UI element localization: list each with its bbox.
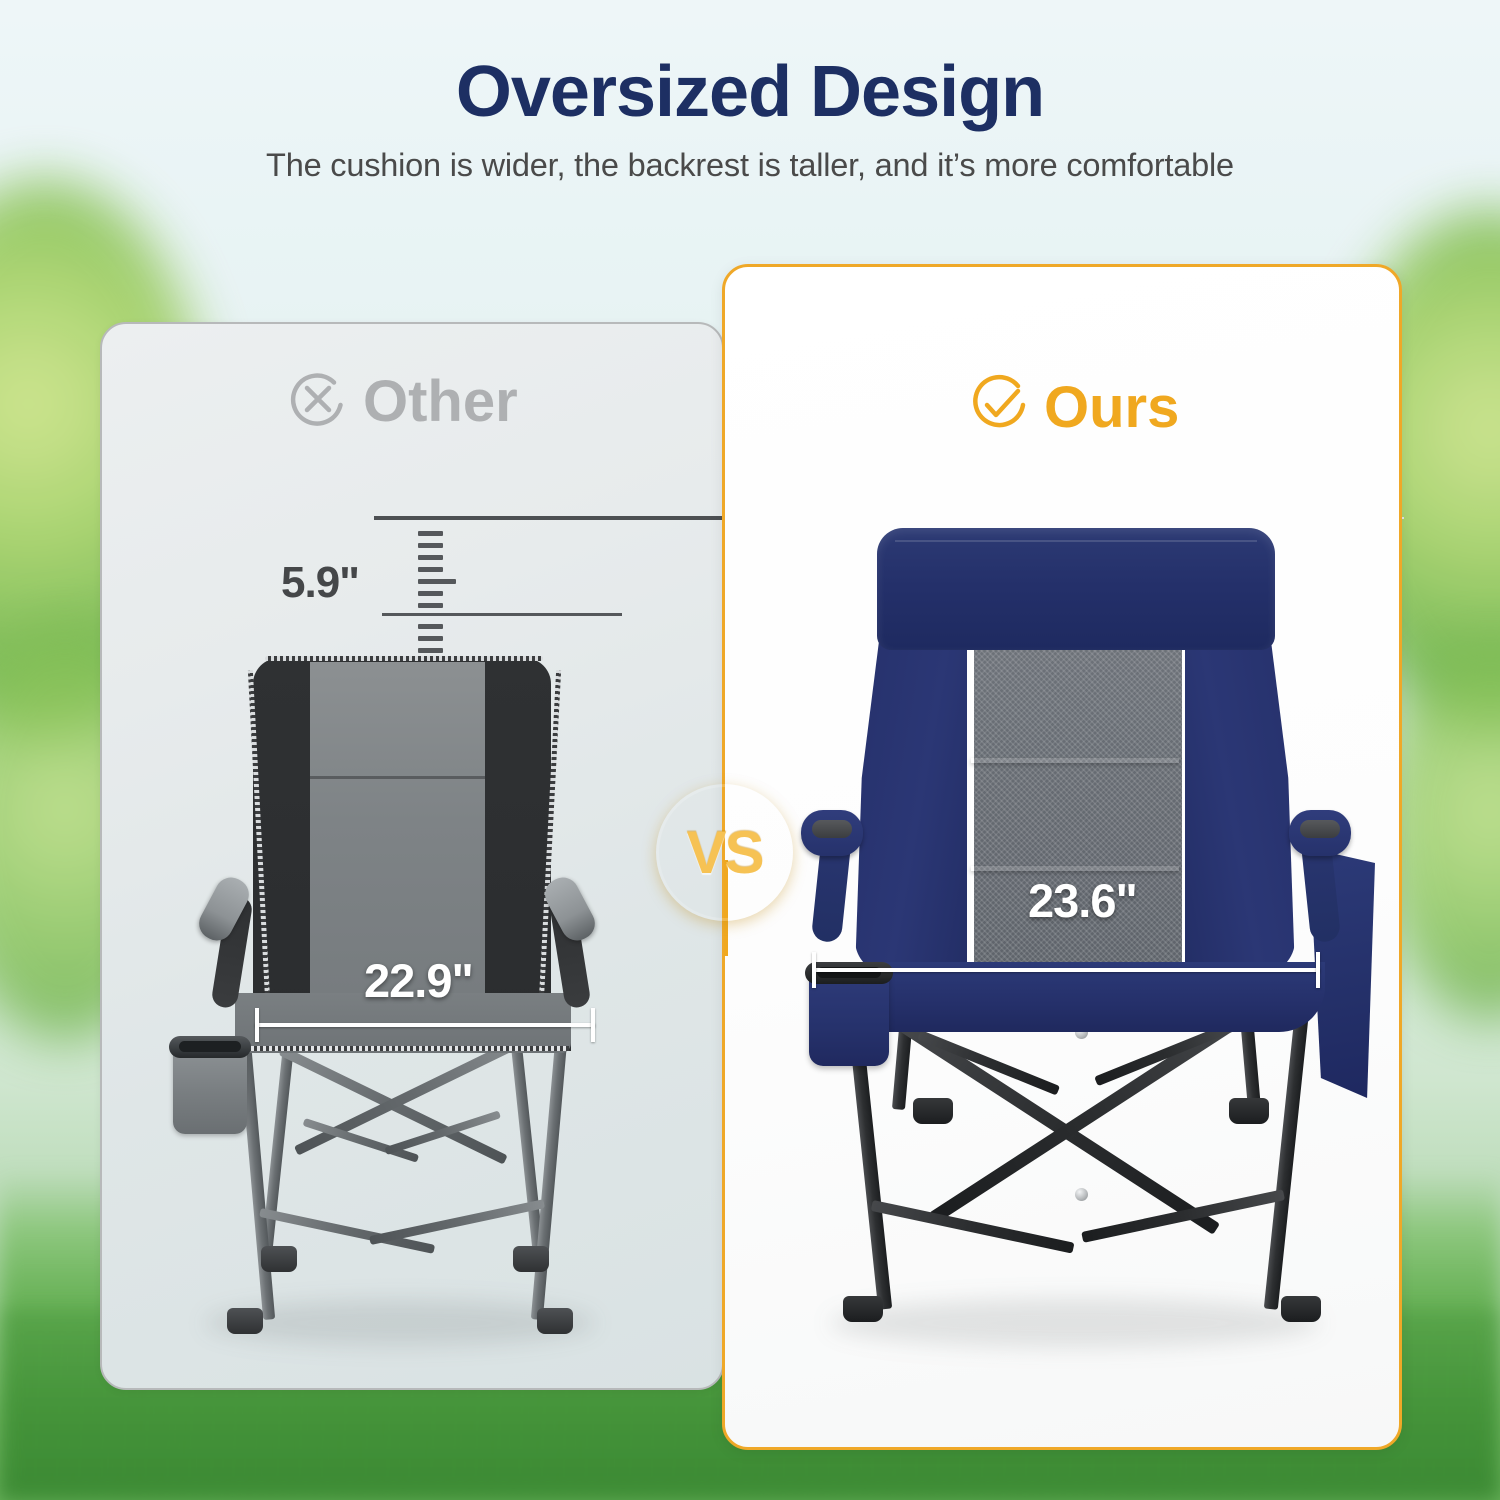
vs-badge: VS bbox=[656, 784, 793, 921]
dimension-cap-right-other bbox=[591, 1008, 595, 1042]
dimension-cap-left-other bbox=[255, 1008, 259, 1042]
chair-seat bbox=[831, 962, 1325, 1032]
dimension-line-ours bbox=[812, 968, 1320, 972]
chair-mesh-seam bbox=[971, 758, 1179, 763]
page-title: Oversized Design bbox=[0, 52, 1500, 133]
infographic-canvas: Oversized Design The cushion is wider, t… bbox=[0, 0, 1500, 1500]
badge-ours: Ours bbox=[968, 374, 1179, 441]
chair-foot bbox=[261, 1246, 297, 1272]
vs-badge-label: VS bbox=[686, 823, 762, 883]
chair-cup-holder-opening bbox=[179, 1041, 241, 1052]
dimension-cap-left-ours bbox=[812, 952, 816, 988]
dimension-line-other bbox=[255, 1023, 595, 1027]
chair-headrest bbox=[877, 528, 1275, 650]
chair-zipper-bottom bbox=[239, 1046, 569, 1051]
chair-back-panel-right bbox=[1183, 636, 1295, 974]
height-reference-line-bottom bbox=[382, 613, 622, 616]
chair-armrest-cup-left bbox=[812, 820, 852, 838]
width-measure-ours: 23.6" bbox=[1028, 873, 1137, 928]
chair-headrest-seam bbox=[895, 540, 1257, 542]
chair-foot bbox=[1281, 1296, 1321, 1322]
chair-foot bbox=[1229, 1098, 1269, 1124]
chair-back-seam bbox=[310, 776, 485, 779]
circle-check-icon bbox=[968, 374, 1030, 441]
chair-foot bbox=[843, 1296, 883, 1322]
chair-foot bbox=[537, 1308, 573, 1334]
chair-zipper-top bbox=[265, 656, 543, 661]
height-reference-line-top bbox=[374, 516, 724, 520]
header: Oversized Design The cushion is wider, t… bbox=[0, 52, 1500, 184]
page-subtitle: The cushion is wider, the backrest is ta… bbox=[0, 147, 1500, 184]
chair-back-panel-left bbox=[855, 636, 967, 974]
chair-armrest-cup-right bbox=[1300, 820, 1340, 838]
badge-other-label: Other bbox=[363, 373, 518, 431]
chair-cup-holder bbox=[809, 970, 889, 1066]
height-difference-label: 5.9" bbox=[281, 558, 359, 608]
width-measure-other: 22.9" bbox=[364, 953, 473, 1008]
chair-foot bbox=[513, 1246, 549, 1272]
circle-x-icon bbox=[287, 368, 349, 435]
chair-foot bbox=[913, 1098, 953, 1124]
chair-foot bbox=[227, 1308, 263, 1334]
dimension-cap-right-ours bbox=[1316, 952, 1320, 988]
badge-other: Other bbox=[287, 368, 518, 435]
badge-ours-label: Ours bbox=[1044, 379, 1179, 437]
chair-mesh-seam bbox=[971, 866, 1179, 871]
